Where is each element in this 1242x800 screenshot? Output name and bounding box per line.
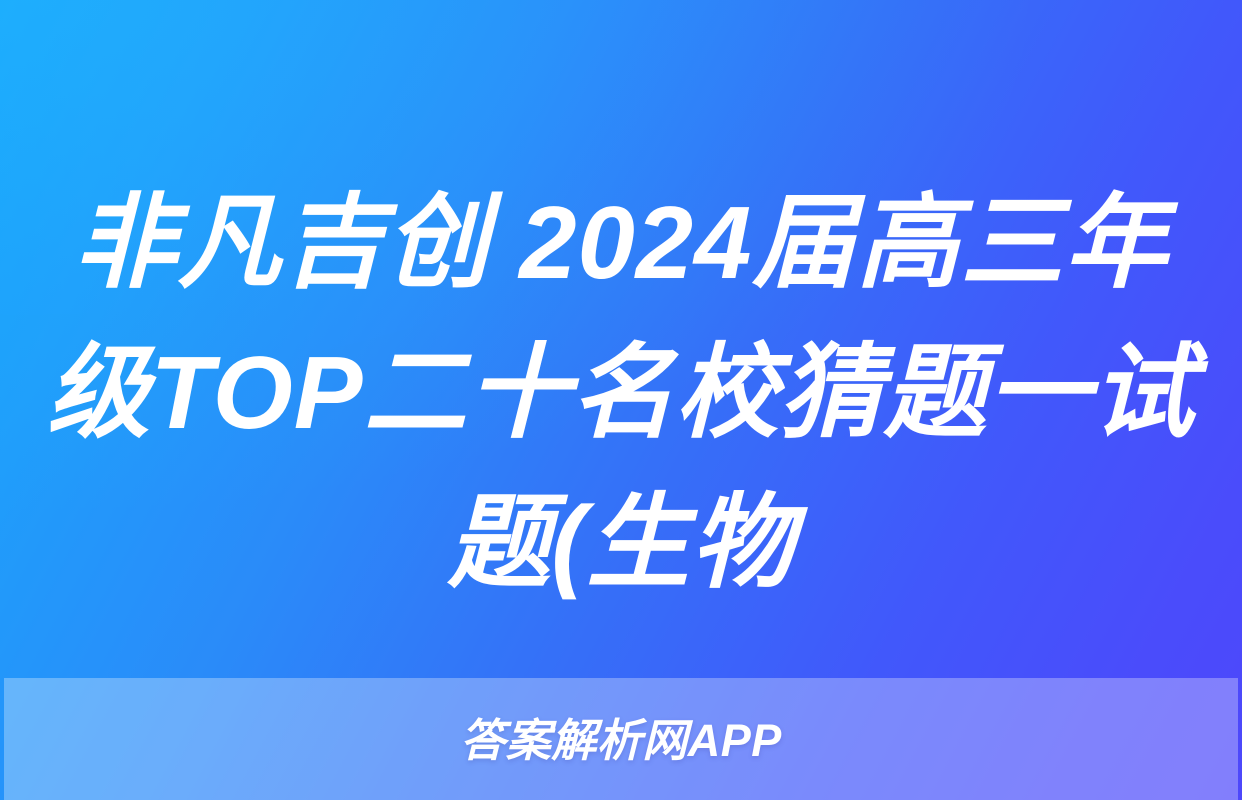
footer-watermark-band: 答案解析网APP (4, 678, 1238, 800)
title-line-1: 非凡吉创 2024届高三年 (46, 168, 1196, 318)
app-watermark-label: 答案解析网APP (460, 718, 782, 763)
page-title: 非凡吉创 2024届高三年 级TOP二十名校猜题一试 题(生物 (0, 168, 1242, 618)
poster-canvas: 非凡吉创 2024届高三年 级TOP二十名校猜题一试 题(生物 答案解析网APP (0, 0, 1242, 800)
title-line-3: 题(生物 (46, 468, 1196, 618)
title-line-2: 级TOP二十名校猜题一试 (46, 318, 1196, 468)
